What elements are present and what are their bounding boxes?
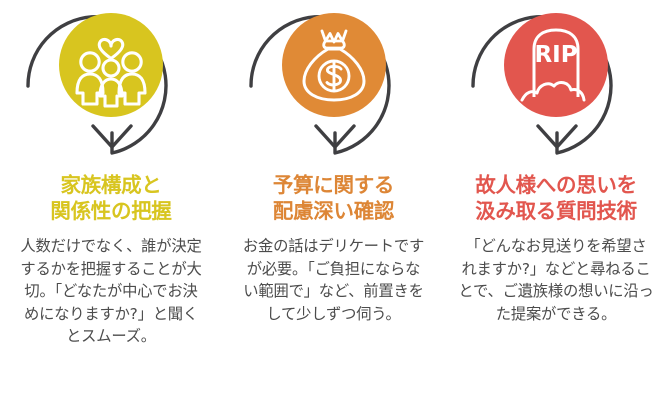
icon-block-budget [223,0,445,172]
column-body-family: 人数だけでなく、誰が決定するかを把握することが大切。「どなたが中心でお決めになり… [18,235,204,348]
column-body-budget: お金の話はデリケートですが必要。「ご負担にならない範囲で」など、前置きをして少し… [241,235,427,325]
column-heading-budget: 予算に関する 配慮深い確認 [234,172,434,226]
heading-line-2: 汲み取る質問技術 [456,198,656,224]
icon-circle [59,13,163,117]
infographic-column-family: 家族構成と 関係性の把握 人数だけでなく、誰が決定するかを把握することが大切。「… [0,0,222,417]
icon-block-memorial: RIP [445,0,667,172]
three-column-infographic: 家族構成と 関係性の把握 人数だけでなく、誰が決定するかを把握することが大切。「… [0,0,667,417]
infographic-column-memorial: RIP 故人様への思いを 汲み取る質問技術 「どんなお見送りを希望されますか?」… [445,0,667,417]
gravestone-rip-icon: RIP [456,0,656,172]
rip-label: RIP [534,42,577,68]
money-bag-icon [234,0,434,172]
heading-line-1: 予算に関する [234,172,434,198]
family-group-heart-icon [11,0,211,172]
column-heading-family: 家族構成と 関係性の把握 [11,172,211,226]
column-body-memorial: 「どんなお見送りを希望されますか?」などと尋ねることで、ご遺族様の想いに沿った提… [458,235,654,325]
heading-line-1: 家族構成と [11,172,211,198]
infographic-column-budget: 予算に関する 配慮深い確認 お金の話はデリケートですが必要。「ご負担にならない範… [223,0,445,417]
icon-block-family [0,0,222,172]
heading-line-1: 故人様への思いを [456,172,656,198]
heading-line-2: 配慮深い確認 [234,198,434,224]
column-heading-memorial: 故人様への思いを 汲み取る質問技術 [456,172,656,226]
heading-line-2: 関係性の把握 [11,198,211,224]
